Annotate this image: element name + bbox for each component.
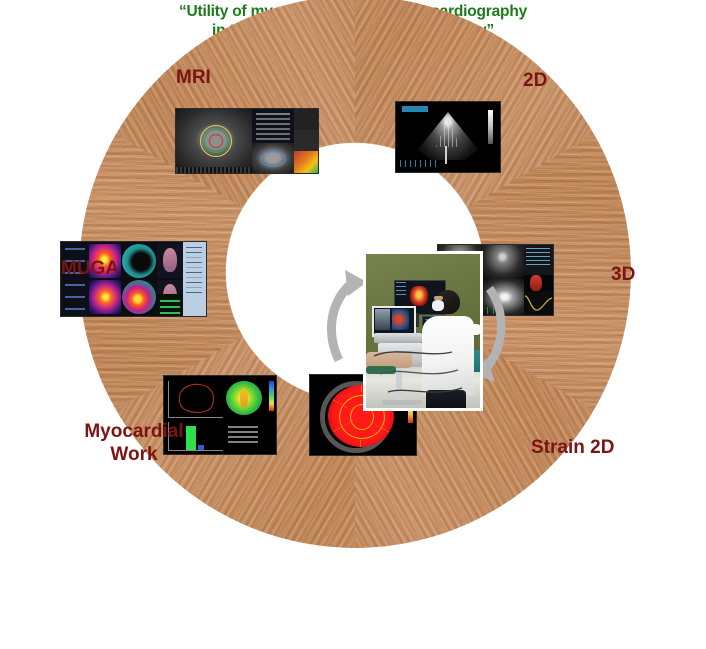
pressure-strain-loop-icon xyxy=(172,382,220,416)
label-2d[interactable]: 2D xyxy=(523,69,547,92)
label-muga[interactable]: MUGA xyxy=(61,257,119,280)
label-mri[interactable]: MRI xyxy=(176,66,211,89)
screen-2d-echo[interactable] xyxy=(395,101,501,173)
label-3d[interactable]: 3D xyxy=(611,263,635,286)
screen-mri[interactable] xyxy=(175,108,319,174)
cables-icon xyxy=(366,340,483,410)
label-myocardial-work[interactable]: Myocardial Work xyxy=(64,420,204,466)
label-myocardial-work-line-1: Myocardial xyxy=(84,421,183,442)
label-strain-2d[interactable]: Strain 2D xyxy=(531,436,614,459)
center-photo[interactable] xyxy=(363,251,483,411)
label-myocardial-work-line-2: Work xyxy=(110,444,157,465)
cycle-arrow-left-up-icon xyxy=(327,270,367,362)
